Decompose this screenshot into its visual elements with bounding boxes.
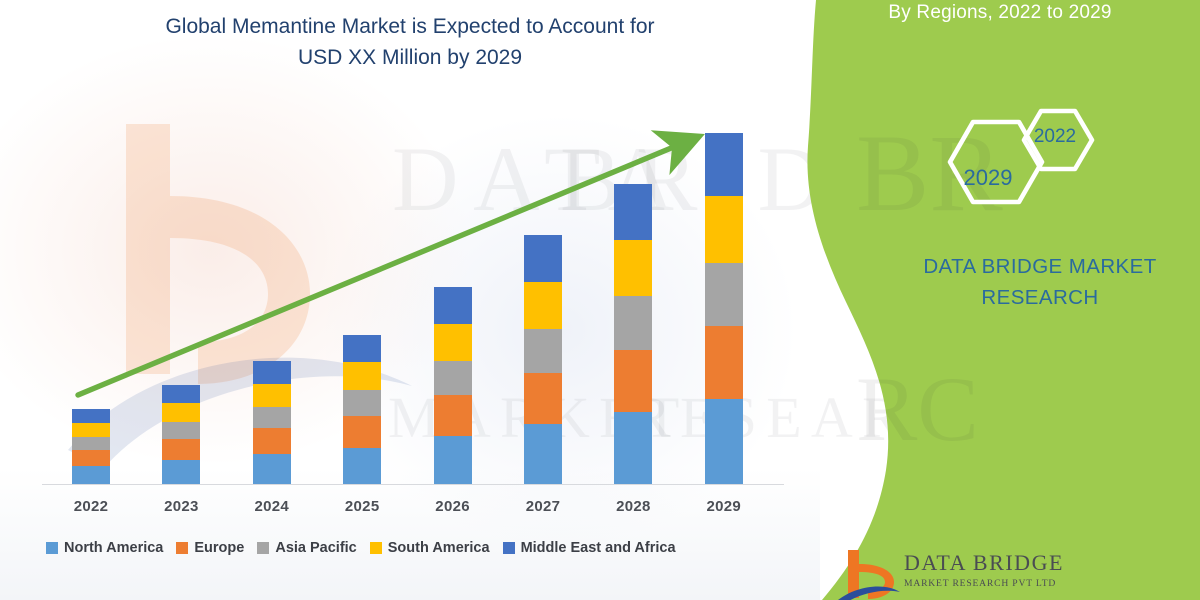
- bar-segment: [434, 324, 472, 361]
- legend-label: South America: [388, 540, 490, 556]
- x-axis-tick-2024: 2024: [232, 498, 312, 515]
- bar-segment: [253, 361, 291, 384]
- legend-item[interactable]: Europe: [176, 540, 244, 556]
- company-logo: DATA BRIDGE MARKET RESEARCH PVT LTD: [838, 548, 1168, 600]
- bar-segment: [253, 407, 291, 428]
- bar-segment: [614, 296, 652, 350]
- stacked-bar-2024: [253, 361, 291, 484]
- bar-segment: [434, 395, 472, 436]
- bar-segment: [343, 335, 381, 362]
- bar-segment: [343, 390, 381, 416]
- bar-segment: [72, 437, 110, 450]
- x-axis-tick-2028: 2028: [593, 498, 673, 515]
- stacked-bar-2027: [524, 235, 562, 484]
- bar-segment: [162, 385, 200, 403]
- brand-name: DATA BRIDGE MARKET RESEARCH: [880, 252, 1200, 314]
- bar-segment: [705, 263, 743, 327]
- chart-legend: North AmericaEuropeAsia PacificSouth Ame…: [46, 540, 806, 556]
- legend-label: Asia Pacific: [275, 540, 356, 556]
- bar-segment: [614, 184, 652, 240]
- bar-segment: [614, 412, 652, 484]
- bar-segment: [162, 403, 200, 422]
- company-logo-mark-icon: [838, 548, 900, 600]
- bar-segment: [524, 329, 562, 373]
- stacked-bar-2022: [72, 409, 110, 484]
- brand-name-line-2: RESEARCH: [880, 283, 1200, 314]
- legend-item[interactable]: Middle East and Africa: [503, 540, 676, 556]
- bar-segment: [343, 416, 381, 448]
- panel-heading: By Regions, 2022 to 2029: [800, 2, 1200, 24]
- bar-segment: [434, 361, 472, 395]
- bar-segment: [434, 436, 472, 484]
- stacked-bar-2026: [434, 287, 472, 484]
- brand-name-line-1: DATA BRIDGE MARKET: [923, 255, 1156, 278]
- bar-segment: [705, 326, 743, 399]
- stacked-bar-2023: [162, 385, 200, 484]
- chart-plot-area: 20222023202420252026202720282029: [0, 0, 820, 600]
- stacked-bar-2029: [705, 133, 743, 484]
- stacked-bar-2028: [614, 184, 652, 484]
- bar-segment: [162, 422, 200, 439]
- legend-label: North America: [64, 540, 163, 556]
- bar-segment: [705, 133, 743, 196]
- x-axis-tick-2023: 2023: [141, 498, 221, 515]
- legend-swatch-icon: [46, 542, 58, 554]
- bar-segment: [524, 235, 562, 282]
- bar-segment: [72, 466, 110, 484]
- bar-segment: [614, 350, 652, 412]
- bar-segment: [705, 196, 743, 263]
- svg-text:RC: RC: [856, 358, 979, 460]
- hexagon-label-2029: 2029: [938, 165, 1038, 191]
- bar-segment: [343, 448, 381, 484]
- x-axis-line: [42, 484, 784, 485]
- x-axis-tick-2026: 2026: [413, 498, 493, 515]
- legend-label: Middle East and Africa: [521, 540, 676, 556]
- hexagon-label-2022: 2022: [1010, 126, 1100, 148]
- infographic-canvas: DATA BRIDGE MARKET RESEARCH Global Meman…: [0, 0, 1200, 600]
- legend-item[interactable]: North America: [46, 540, 163, 556]
- legend-swatch-icon: [176, 542, 188, 554]
- legend-item[interactable]: South America: [370, 540, 490, 556]
- x-axis-tick-2029: 2029: [684, 498, 764, 515]
- legend-swatch-icon: [257, 542, 269, 554]
- bar-segment: [253, 454, 291, 484]
- company-logo-name: DATA BRIDGE: [904, 550, 1064, 576]
- bar-segment: [72, 409, 110, 423]
- bar-segment: [614, 240, 652, 296]
- bar-segment: [72, 423, 110, 437]
- legend-swatch-icon: [370, 542, 382, 554]
- bar-segment: [253, 384, 291, 407]
- bar-segment: [524, 282, 562, 329]
- bar-segment: [705, 399, 743, 484]
- bar-segment: [524, 424, 562, 484]
- bar-segment: [72, 450, 110, 466]
- legend-swatch-icon: [503, 542, 515, 554]
- bar-segment: [162, 439, 200, 460]
- hexagon-badges-icon: [920, 92, 1120, 232]
- legend-label: Europe: [194, 540, 244, 556]
- x-axis-tick-2025: 2025: [322, 498, 402, 515]
- x-axis-tick-2027: 2027: [503, 498, 583, 515]
- x-axis-tick-2022: 2022: [51, 498, 131, 515]
- bar-segment: [343, 362, 381, 390]
- bar-segment: [434, 287, 472, 324]
- bar-segment: [524, 373, 562, 424]
- legend-item[interactable]: Asia Pacific: [257, 540, 356, 556]
- stacked-bar-2025: [343, 335, 381, 484]
- bar-segment: [162, 460, 200, 484]
- bar-segment: [253, 428, 291, 454]
- company-logo-tagline: MARKET RESEARCH PVT LTD: [904, 578, 1056, 589]
